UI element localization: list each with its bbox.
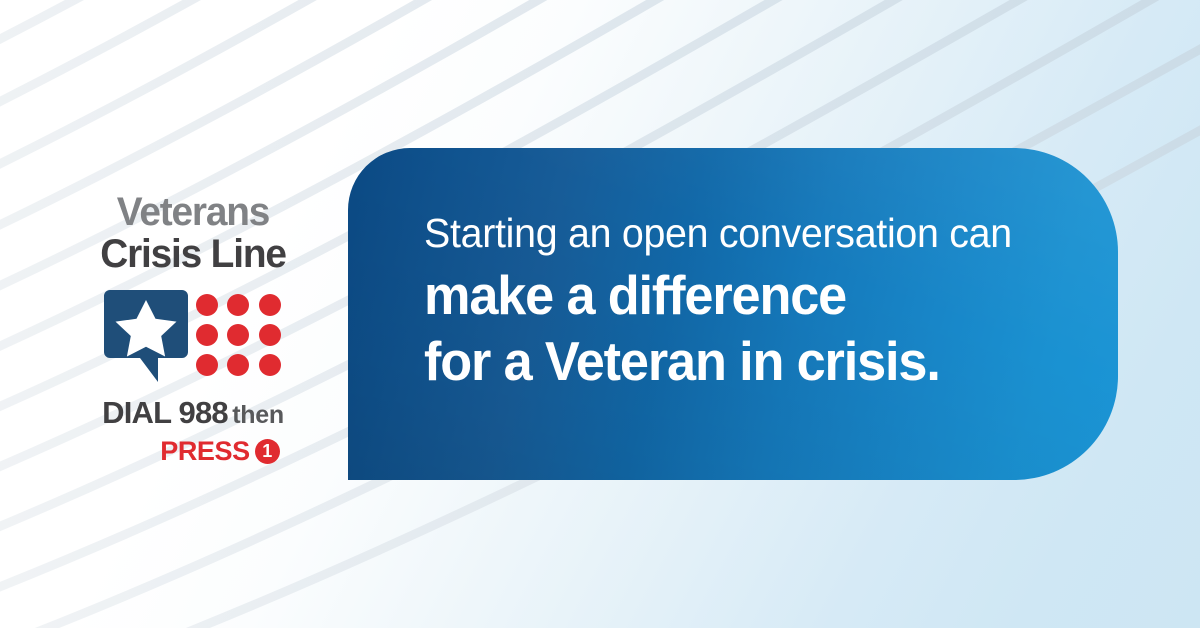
logo-wordmark-veterans: Veterans [91,192,295,232]
dial-number-label: DIAL 988 [102,395,228,430]
press-label: PRESS [160,436,250,466]
headline-line-3: for a Veteran in crisis. [424,328,1051,394]
dot [259,294,281,316]
dot [196,354,218,376]
veterans-crisis-line-logo: Veterans Crisis Line [88,192,298,466]
dial-then-label: then [232,401,284,429]
press-number-badge: 1 [255,439,280,464]
dot [227,324,249,346]
dial-instruction-line: DIAL 988 then [88,398,298,434]
dot [196,324,218,346]
press-instruction-line: PRESS1 [88,436,298,466]
logo-mark [104,290,282,382]
headline-block: Starting an open conversation can make a… [424,206,1084,394]
speech-bubble-star-icon [104,290,188,382]
dot [259,354,281,376]
graphic-canvas: Starting an open conversation can make a… [0,0,1200,628]
headline-line-1: Starting an open conversation can [424,206,1058,260]
dot [227,294,249,316]
nine-dot-grid-icon [196,294,282,376]
logo-wordmark-crisis-line: Crisis Line [91,232,295,276]
dot [196,294,218,316]
headline-line-2: make a difference [424,262,1051,328]
dot [227,354,249,376]
dot [259,324,281,346]
